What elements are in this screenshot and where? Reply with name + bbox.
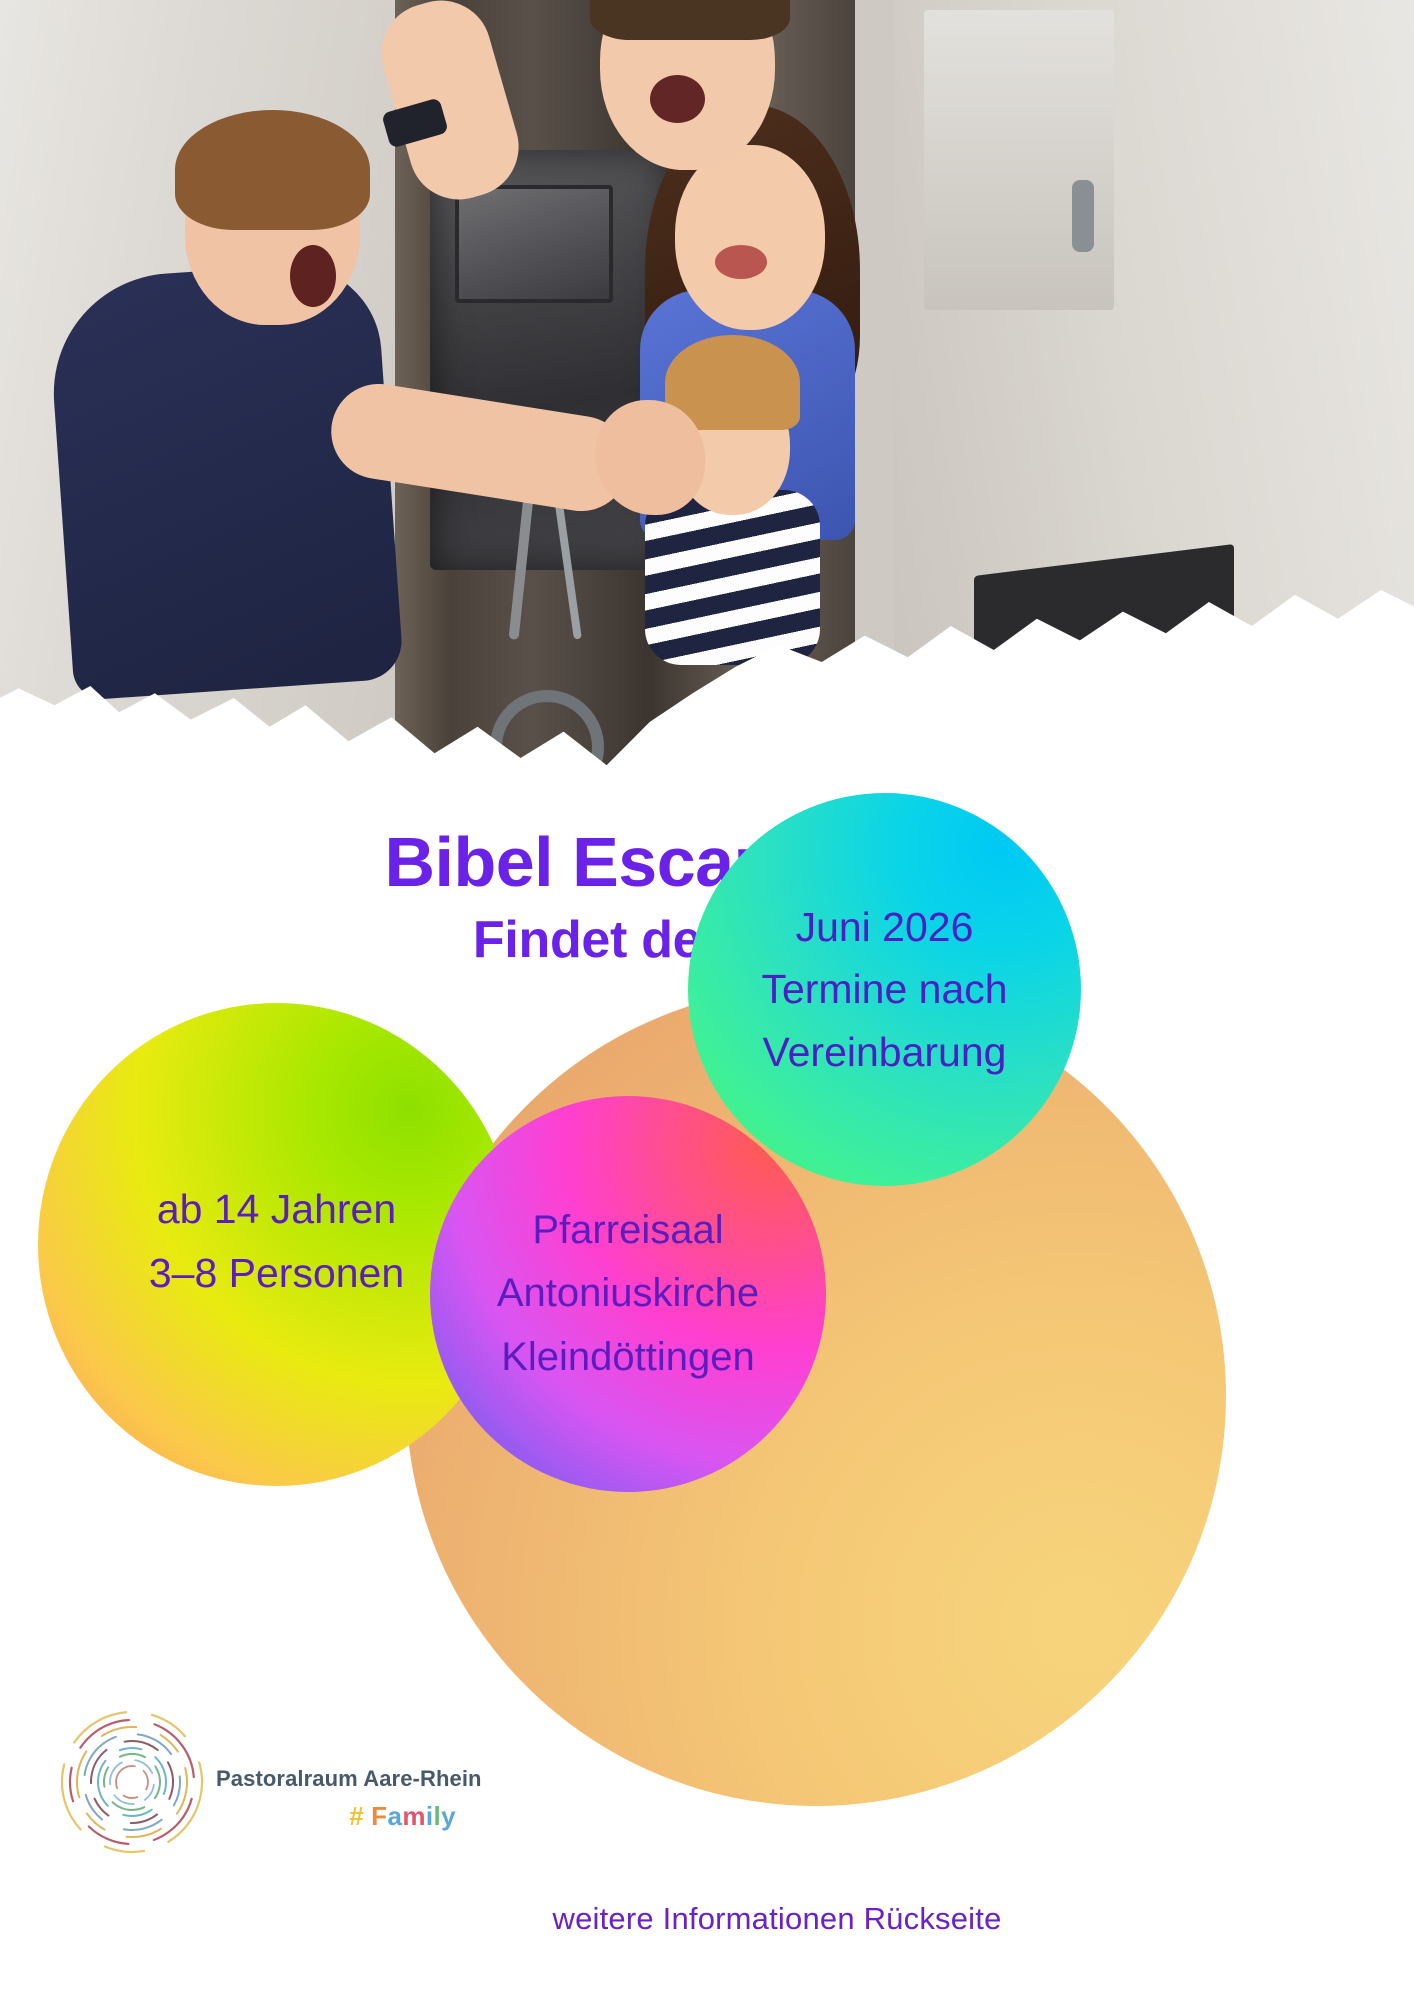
photo-boy-hair	[175, 110, 370, 230]
logo-hashtag-char-1: F	[371, 1801, 387, 1832]
footer-note: weitere Informationen Rückseite	[0, 1901, 1414, 1937]
photo-woman-face	[675, 145, 825, 330]
photo-cabinet-handle	[1072, 180, 1094, 252]
photo-man-hair	[590, 0, 790, 40]
logo-hashtag-char-5: l	[434, 1801, 442, 1832]
logo-hashtag-family: #Family	[216, 1801, 456, 1832]
page-title: Bibel Escape Room	[0, 822, 1414, 902]
dates-line-booking-2: Vereinbarung	[761, 1021, 1007, 1083]
photo-woman-mouth	[715, 245, 767, 279]
logo-hashtag-char-4: i	[426, 1801, 434, 1832]
photo-boy-shirt	[46, 259, 404, 701]
logo-hashtag-char-6: y	[441, 1801, 456, 1832]
footer-note-text: weitere Informationen Rückseite	[412, 1901, 1001, 1937]
venue-line-town: Kleindöttingen	[497, 1326, 759, 1389]
logo-organisation-name: Pastoralraum Aare-Rhein	[216, 1766, 456, 1792]
photo-man-mouth	[650, 75, 705, 123]
logo-hashtag-char-2: a	[387, 1801, 402, 1832]
logo-hashtag-char-0: #	[349, 1801, 364, 1832]
photo-boy-mouth	[290, 245, 336, 307]
hero-photo	[0, 0, 1414, 790]
dates-line-month: Juni 2026	[761, 896, 1007, 958]
audience-line-group: 3–8 Personen	[149, 1242, 404, 1306]
photo-cabinet	[924, 10, 1114, 310]
logo-hashtag-char-3: m	[402, 1801, 426, 1832]
venue-line-hall: Pfarreisaal	[497, 1199, 759, 1262]
audience-line-age: ab 14 Jahren	[149, 1178, 404, 1242]
photo-child-shirt	[645, 490, 820, 665]
dates-bubble: Juni 2026 Termine nach Vereinbarung	[688, 793, 1081, 1186]
dates-line-booking-1: Termine nach	[761, 958, 1007, 1020]
organisation-logo: Pastoralraum Aare-Rhein #Family	[58, 1708, 418, 1923]
logo-wordmark: Pastoralraum Aare-Rhein #Family	[216, 1766, 456, 1832]
photo-machine-panel	[455, 185, 613, 303]
concentric-arcs-icon	[58, 1708, 206, 1856]
venue-bubble: Pfarreisaal Antoniuskirche Kleindöttinge…	[430, 1096, 826, 1492]
venue-line-church: Antoniuskirche	[497, 1262, 759, 1325]
